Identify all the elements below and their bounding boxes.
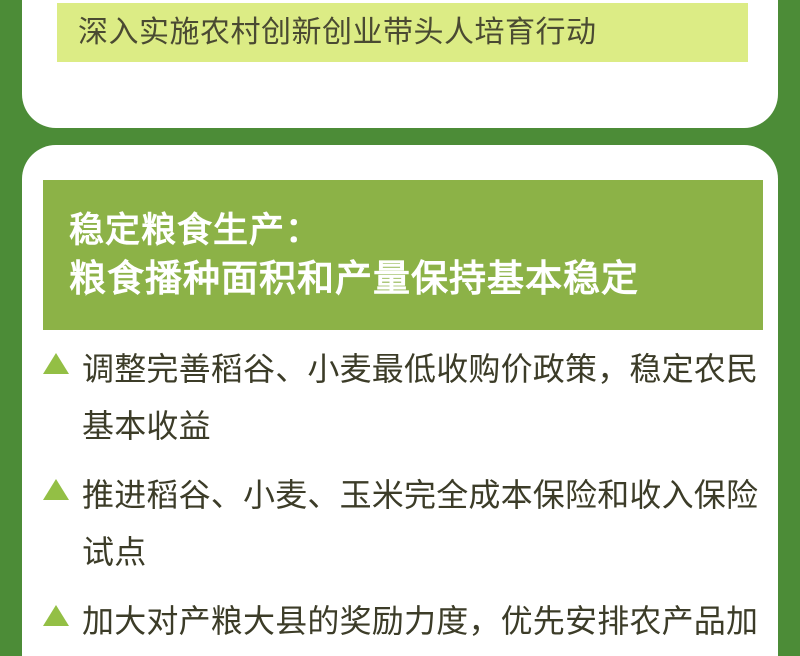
list-item: 推进稻谷、小麦、玉米完全成本保险和收入保险试点	[43, 467, 773, 581]
triangle-up-icon	[43, 353, 69, 374]
highlight-strip-text: 深入实施农村创新创业带头人培育行动	[78, 15, 597, 51]
section-heading-block: 稳定粮食生产： 粮食播种面积和产量保持基本稳定	[43, 180, 763, 330]
card-previous-section: 深入实施农村创新创业带头人培育行动	[22, 0, 778, 128]
list-item: 调整完善稻谷、小麦最低收购价政策，稳定农民基本收益	[43, 341, 773, 455]
bullet-list: 调整完善稻谷、小麦最低收购价政策，稳定农民基本收益 推进稻谷、小麦、玉米完全成本…	[43, 341, 773, 656]
highlight-strip: 深入实施农村创新创业带头人培育行动	[57, 3, 748, 62]
list-item-text: 加大对产粮大县的奖励力度，优先安排农产品加	[82, 593, 773, 650]
triangle-up-icon	[43, 479, 69, 500]
card-grain-production: 稳定粮食生产： 粮食播种面积和产量保持基本稳定 调整完善稻谷、小麦最低收购价政策…	[22, 145, 778, 656]
triangle-up-icon	[43, 605, 69, 626]
infographic-page: 深入实施农村创新创业带头人培育行动 稳定粮食生产： 粮食播种面积和产量保持基本稳…	[0, 0, 800, 656]
list-item-text: 调整完善稻谷、小麦最低收购价政策，稳定农民基本收益	[82, 341, 773, 455]
section-heading-line-2: 粮食播种面积和产量保持基本稳定	[69, 255, 737, 304]
list-item-text: 推进稻谷、小麦、玉米完全成本保险和收入保险试点	[82, 467, 773, 581]
list-item: 加大对产粮大县的奖励力度，优先安排农产品加	[43, 593, 773, 650]
section-heading-line-1: 稳定粮食生产：	[69, 208, 737, 254]
